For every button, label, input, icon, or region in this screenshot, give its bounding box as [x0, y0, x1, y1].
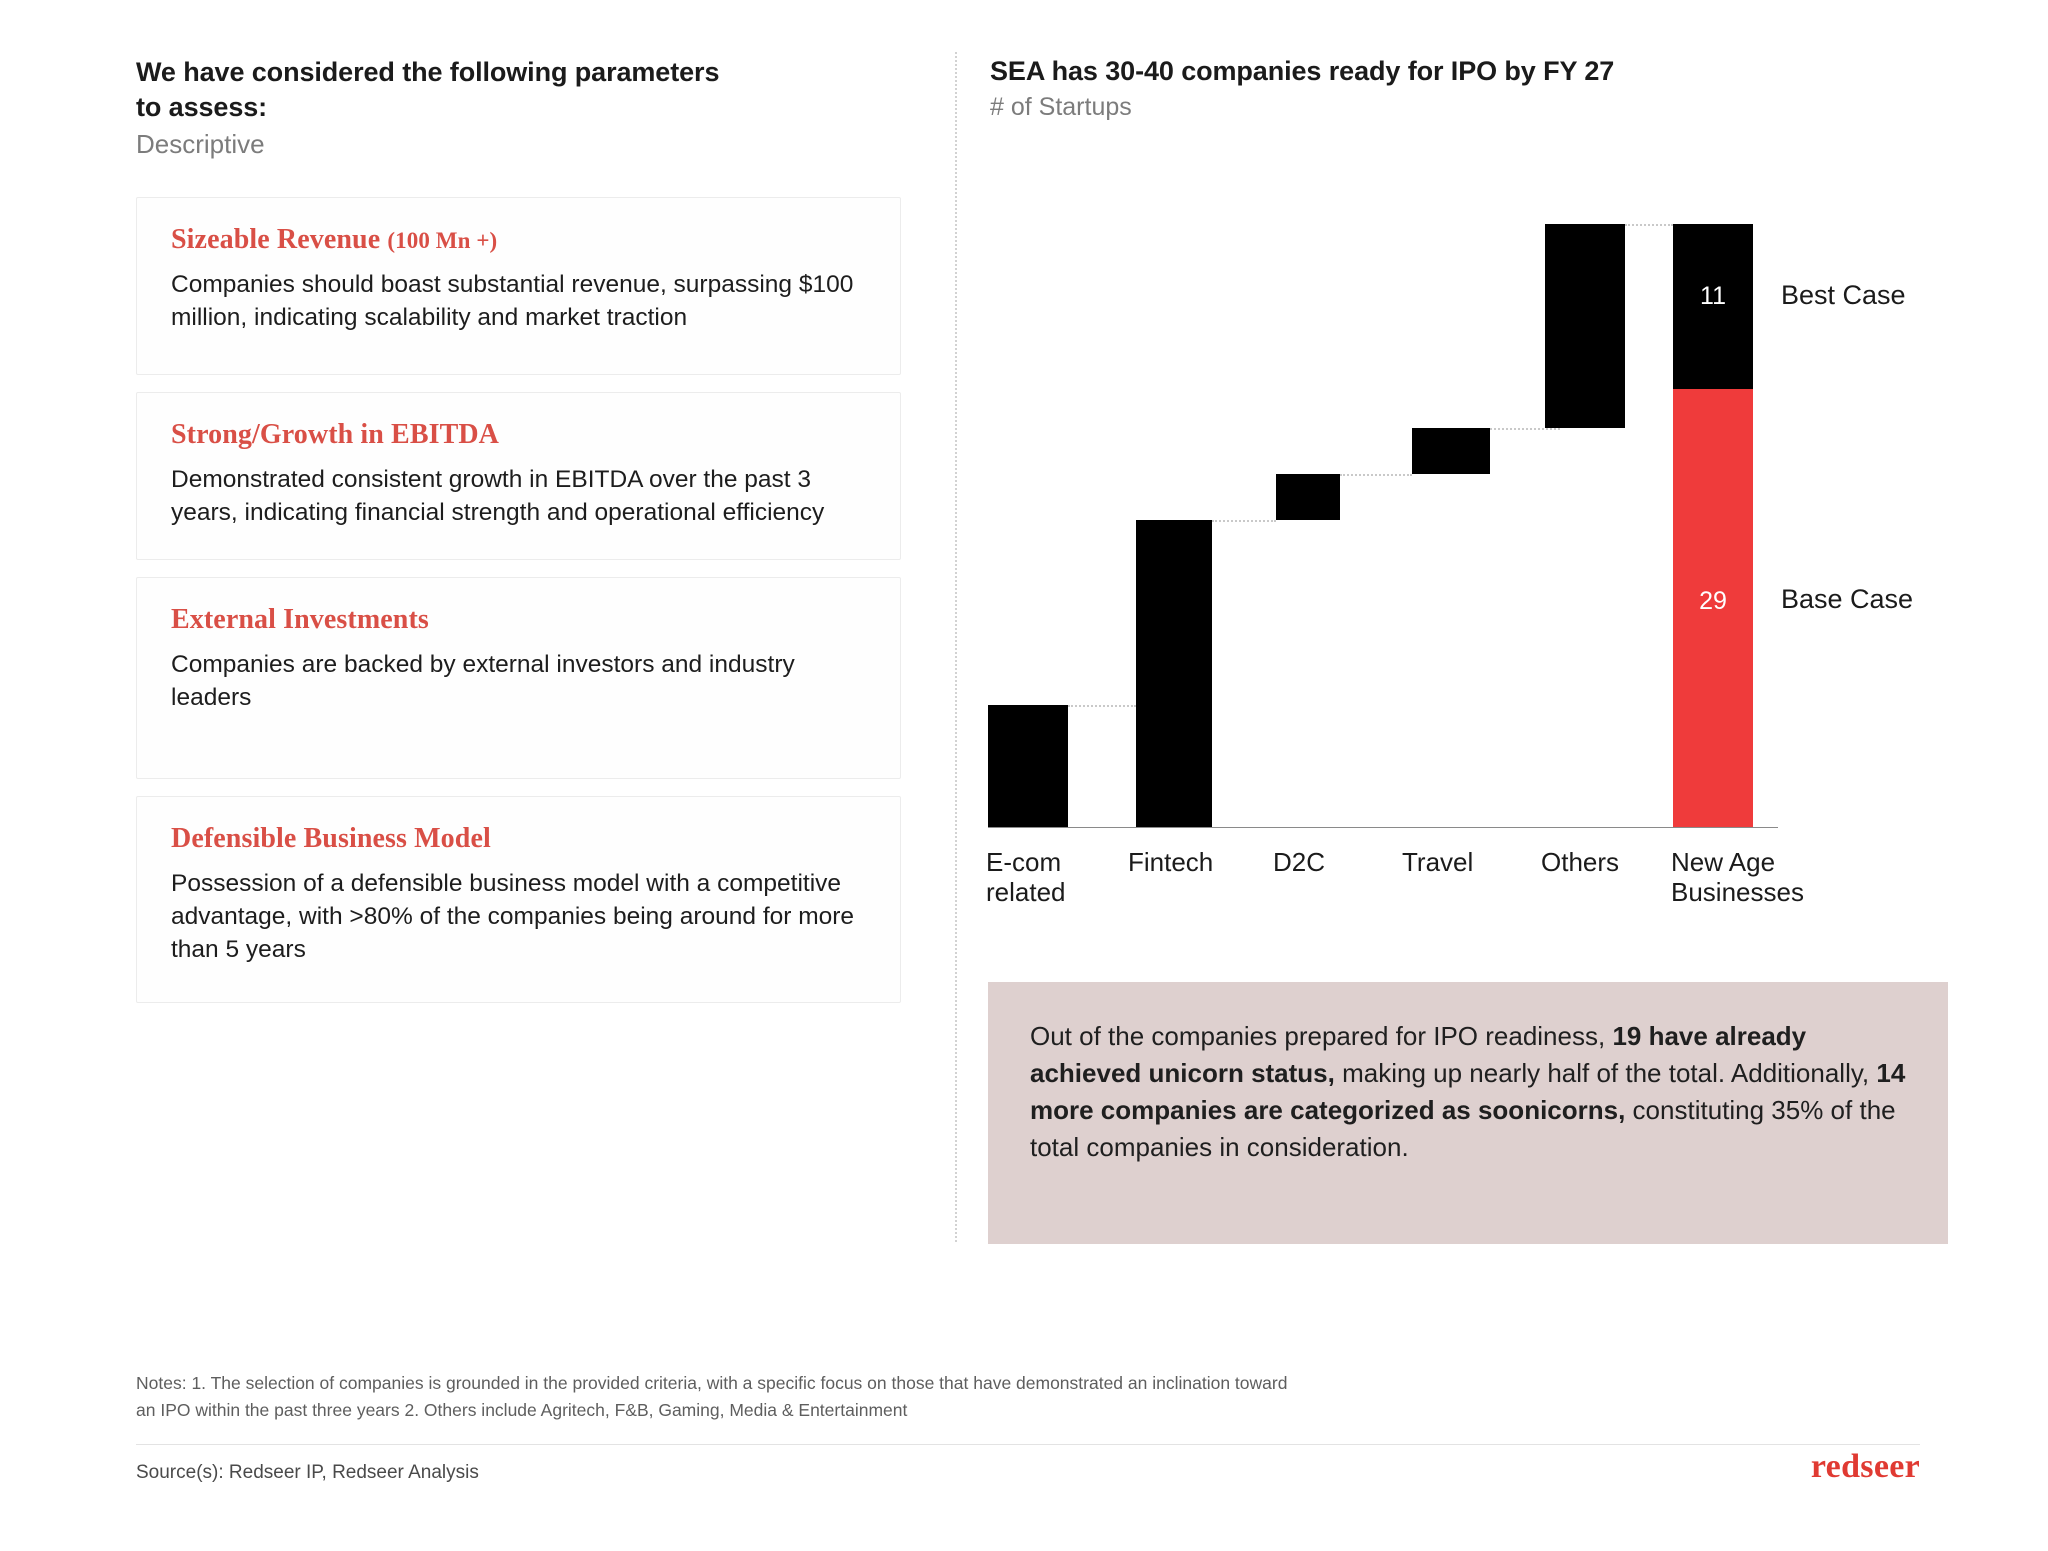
- insight-callout-text: Out of the companies prepared for IPO re…: [1030, 1018, 1906, 1166]
- card-body: Companies are backed by external investo…: [171, 649, 866, 714]
- footnote-line-1: Notes: 1. The selection of companies is …: [136, 1370, 1916, 1397]
- x-label-fintech: Fintech: [1128, 847, 1213, 877]
- parameter-card-external-investments[interactable]: External Investments Companies are backe…: [136, 577, 901, 779]
- left-panel-subtitle: Descriptive: [136, 128, 776, 161]
- series-label-base-case: Base Case: [1781, 584, 1913, 615]
- left-panel-title-line1: We have considered the following paramet…: [136, 55, 776, 90]
- x-axis-line: [988, 827, 1778, 828]
- callout-part-2: making up nearly half of the total. Addi…: [1335, 1058, 1877, 1088]
- series-label-best-case: Best Case: [1781, 280, 1906, 311]
- parameter-card-strong-growth-ebitda[interactable]: Strong/Growth in EBITDA Demonstrated con…: [136, 392, 901, 560]
- footnote-line-2: an IPO within the past three years 2. Ot…: [136, 1397, 1916, 1424]
- card-title-suffix: (100 Mn +): [387, 228, 497, 253]
- left-panel-title-line2: to assess:: [136, 90, 776, 125]
- card-body: Possession of a defensible business mode…: [171, 868, 866, 966]
- source-line: Source(s): Redseer IP, Redseer Analysis: [136, 1462, 479, 1484]
- waterfall-chart: 11 29 Best Case Base Case E-comrelated F…: [988, 212, 1948, 837]
- waterfall-connector-5: [1625, 224, 1673, 226]
- waterfall-connector-4: [1490, 428, 1560, 430]
- waterfall-connector-1: [1068, 705, 1136, 707]
- footnotes: Notes: 1. The selection of companies is …: [136, 1370, 1916, 1424]
- parameter-card-list: Sizeable Revenue (100 Mn +) Companies sh…: [136, 197, 901, 1020]
- card-title: Defensible Business Model: [171, 823, 866, 855]
- chart-plot-area: 11 29 Best Case Base Case: [988, 212, 1778, 828]
- x-label-new-age-businesses: New AgeBusinesses: [1671, 847, 1861, 908]
- card-body: Demonstrated consistent growth in EBITDA…: [171, 464, 866, 529]
- card-title-main: Sizeable Revenue: [171, 224, 380, 255]
- waterfall-connector-3: [1340, 474, 1412, 476]
- card-title-main: Strong/Growth in EBITDA: [171, 419, 499, 450]
- card-title-main: Defensible Business Model: [171, 823, 491, 854]
- x-axis-category-labels: E-comrelated Fintech D2C Travel Others N…: [988, 837, 1948, 927]
- x-label-others: Others: [1541, 847, 1619, 877]
- callout-part-1: Out of the companies prepared for IPO re…: [1030, 1021, 1612, 1051]
- bar-others[interactable]: [1545, 224, 1625, 428]
- bar-fintech[interactable]: [1136, 520, 1212, 827]
- insight-callout: Out of the companies prepared for IPO re…: [988, 982, 1948, 1244]
- parameter-card-sizeable-revenue[interactable]: Sizeable Revenue (100 Mn +) Companies sh…: [136, 197, 901, 375]
- x-label-travel: Travel: [1402, 847, 1473, 877]
- card-title: Sizeable Revenue (100 Mn +): [171, 224, 866, 256]
- parameter-card-defensible-business-model[interactable]: Defensible Business Model Possession of …: [136, 796, 901, 1003]
- slide-canvas: We have considered the following paramet…: [0, 0, 2048, 1551]
- bar-d2c[interactable]: [1276, 474, 1340, 520]
- card-title: External Investments: [171, 604, 866, 636]
- redseer-logo: redseer: [1811, 1448, 1920, 1486]
- bar-value-base-case: 29: [1673, 587, 1753, 616]
- chart-title: SEA has 30-40 companies ready for IPO by…: [990, 55, 1970, 89]
- x-label-ecom-related: E-comrelated: [986, 847, 1106, 908]
- card-body: Companies should boast substantial reven…: [171, 269, 866, 334]
- bar-value-best-case: 11: [1673, 282, 1753, 311]
- waterfall-connector-2: [1212, 520, 1276, 522]
- bar-travel[interactable]: [1412, 428, 1490, 474]
- left-panel-title: We have considered the following paramet…: [136, 55, 776, 124]
- card-title: Strong/Growth in EBITDA: [171, 419, 866, 451]
- vertical-divider: [955, 52, 957, 1242]
- chart-subtitle: # of Startups: [990, 93, 1970, 122]
- footer-divider: [136, 1444, 1920, 1445]
- card-title-main: External Investments: [171, 604, 429, 635]
- bar-ecom-related[interactable]: [988, 705, 1068, 827]
- left-header: We have considered the following paramet…: [136, 55, 776, 161]
- x-label-d2c: D2C: [1273, 847, 1325, 877]
- chart-header: SEA has 30-40 companies ready for IPO by…: [990, 55, 1970, 122]
